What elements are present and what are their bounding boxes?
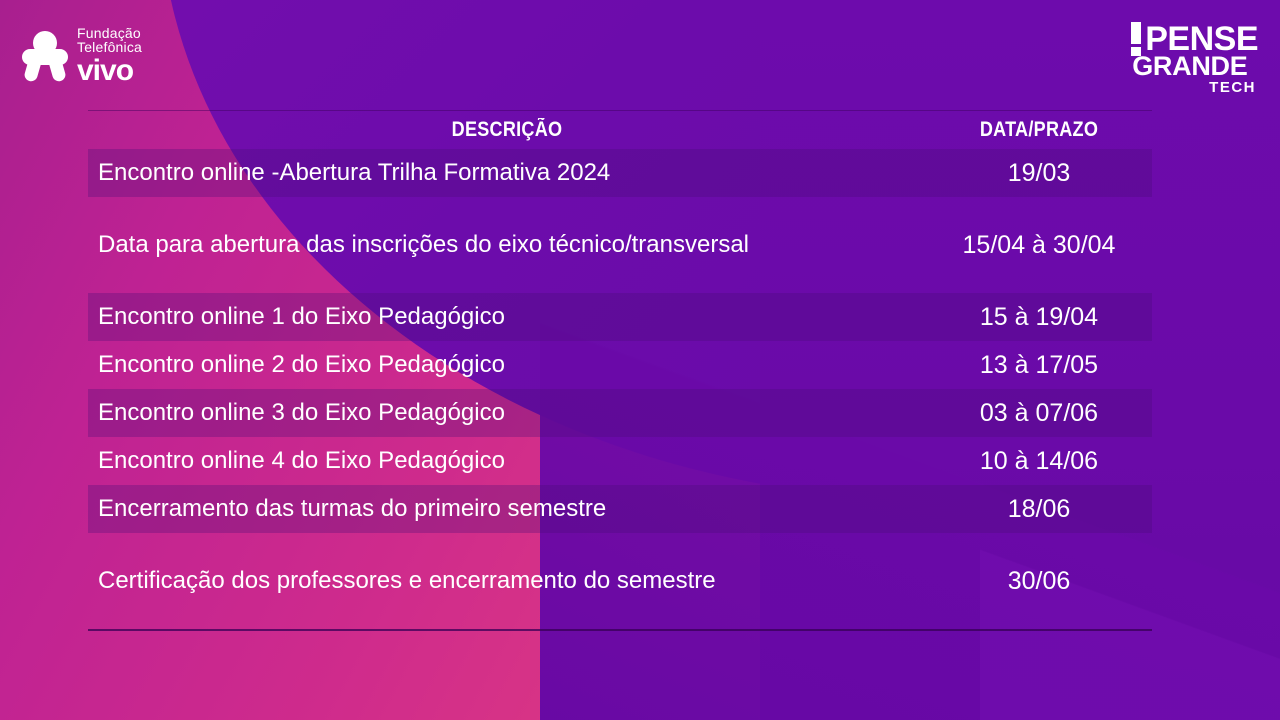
cell-date: 10 à 14/06 [926, 441, 1152, 481]
slide-canvas: Fundação Telefônica vivo PENSE GRANDE TE… [0, 0, 1280, 720]
logo-line-tech: TECH [1131, 81, 1258, 95]
logo-wordmark-vivo: vivo [77, 56, 142, 87]
table-row: Data para abertura das inscrições do eix… [88, 197, 1152, 293]
cell-date: 30/06 [926, 561, 1152, 601]
table-row: Encontro online 1 do Eixo Pedagógico 15 … [88, 293, 1152, 341]
cell-description: Data para abertura das inscrições do eix… [88, 225, 926, 265]
column-header-date: DATA/PRAZO [942, 118, 1136, 142]
cell-date: 19/03 [926, 153, 1152, 193]
cell-description: Encontro online 3 do Eixo Pedagógico [88, 393, 926, 433]
pense-grande-tech-logo: PENSE GRANDE TECH [1131, 22, 1258, 95]
logo-line-fundacao: Fundação [77, 26, 142, 40]
table-header-row: DESCRIÇÃO DATA/PRAZO [88, 111, 1152, 149]
cell-description: Encontro online -Abertura Trilha Formati… [88, 153, 926, 193]
logo-line-telefonica: Telefônica [77, 40, 142, 54]
cell-date: 13 à 17/05 [926, 345, 1152, 385]
table-row: Certificação dos professores e encerrame… [88, 533, 1152, 629]
cell-description: Encontro online 4 do Eixo Pedagógico [88, 441, 926, 481]
schedule-table: DESCRIÇÃO DATA/PRAZO Encontro online -Ab… [88, 110, 1152, 631]
table-row: Encontro online 2 do Eixo Pedagógico 13 … [88, 341, 1152, 389]
cell-description: Encontro online 1 do Eixo Pedagógico [88, 297, 926, 337]
table-row: Encontro online 4 do Eixo Pedagógico 10 … [88, 437, 1152, 485]
table-row: Encerramento das turmas do primeiro seme… [88, 485, 1152, 533]
cell-date: 15/04 à 30/04 [926, 225, 1152, 265]
cell-description: Certificação dos professores e encerrame… [88, 561, 926, 601]
vivo-person-icon [22, 31, 68, 81]
table-row: Encontro online 3 do Eixo Pedagógico 03 … [88, 389, 1152, 437]
column-header-description: DESCRIÇÃO [147, 118, 868, 142]
cell-date: 15 à 19/04 [926, 297, 1152, 337]
exclamation-icon [1131, 22, 1144, 56]
logo-line-grande: GRANDE [1131, 54, 1258, 80]
cell-date: 18/06 [926, 489, 1152, 529]
cell-description: Encontro online 2 do Eixo Pedagógico [88, 345, 926, 385]
table-bottom-rule [88, 629, 1152, 631]
cell-date: 03 à 07/06 [926, 393, 1152, 433]
cell-description: Encerramento das turmas do primeiro seme… [88, 489, 926, 529]
fundacao-telefonica-vivo-logo: Fundação Telefônica vivo [22, 26, 142, 86]
table-row: Encontro online -Abertura Trilha Formati… [88, 149, 1152, 197]
